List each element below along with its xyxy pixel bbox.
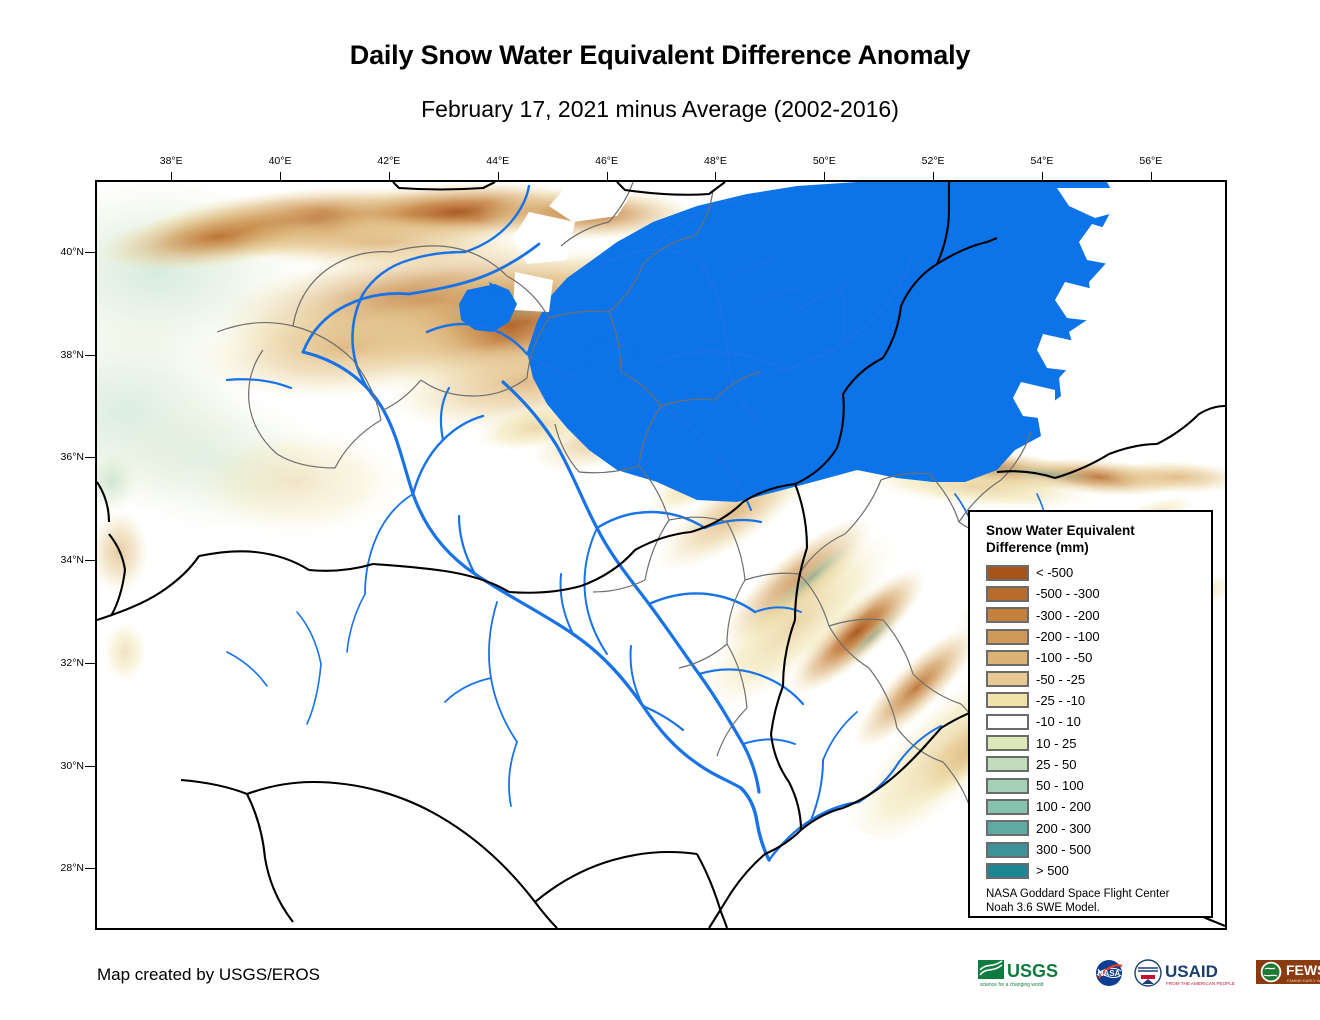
map-credit: Map created by USGS/EROS <box>97 965 320 985</box>
latitude-tick-label: 40°N <box>40 246 84 258</box>
svg-text:USGS: USGS <box>1007 961 1058 981</box>
svg-text:FAMINE EARLY WARNING SYSTEMS N: FAMINE EARLY WARNING SYSTEMS NETWORK <box>1287 978 1320 983</box>
legend-swatch <box>986 735 1029 751</box>
legend-label: < -500 <box>1036 565 1073 580</box>
svg-text:science for a changing world: science for a changing world <box>980 982 1044 988</box>
legend-label: -10 - 10 <box>1036 714 1081 729</box>
legend-row: 25 - 50 <box>986 754 1211 775</box>
page-title: Daily Snow Water Equivalent Difference A… <box>0 40 1320 71</box>
legend-row: 10 - 25 <box>986 732 1211 753</box>
legend-swatch <box>986 607 1029 623</box>
legend-label: -25 - -10 <box>1036 693 1085 708</box>
longitude-tick-mark <box>1151 172 1152 180</box>
legend-class-list: < -500-500 - -300-300 - -200-200 - -100-… <box>986 562 1211 881</box>
legend-row: < -500 <box>986 562 1211 583</box>
usgs-logo: USGS science for a changing world <box>978 957 1086 989</box>
legend-swatch <box>986 692 1029 708</box>
legend-label: 200 - 300 <box>1036 821 1091 836</box>
latitude-tick-mark <box>85 868 95 869</box>
longitude-tick-mark <box>933 172 934 180</box>
map-page: Daily Snow Water Equivalent Difference A… <box>0 0 1320 1020</box>
longitude-tick-label: 56°E <box>1139 155 1162 167</box>
legend-row: > 500 <box>986 860 1211 881</box>
legend-row: -10 - 10 <box>986 711 1211 732</box>
legend-label: 100 - 200 <box>1036 799 1091 814</box>
legend-label: -50 - -25 <box>1036 672 1085 687</box>
legend-label: -300 - -200 <box>1036 608 1100 623</box>
legend-swatch <box>986 778 1029 794</box>
legend-swatch <box>986 799 1029 815</box>
agency-logos: USGS science for a changing world NASA U… <box>978 957 1320 989</box>
longitude-tick-mark <box>1042 172 1043 180</box>
longitude-tick-label: 48°E <box>704 155 727 167</box>
legend-row: 300 - 500 <box>986 839 1211 860</box>
svg-text:FROM THE AMERICAN PEOPLE: FROM THE AMERICAN PEOPLE <box>1166 981 1235 986</box>
legend-swatch <box>986 629 1029 645</box>
svg-text:FEWS NET: FEWS NET <box>1286 962 1320 978</box>
longitude-tick-label: 54°E <box>1031 155 1054 167</box>
longitude-tick-mark <box>389 172 390 180</box>
map-legend: Snow Water Equivalent Difference (mm) < … <box>968 510 1213 918</box>
legend-swatch <box>986 863 1029 879</box>
legend-label: 10 - 25 <box>1036 736 1076 751</box>
latitude-tick-mark <box>85 457 95 458</box>
latitude-tick-mark <box>85 663 95 664</box>
legend-row: 50 - 100 <box>986 775 1211 796</box>
legend-swatch <box>986 586 1029 602</box>
legend-label: 300 - 500 <box>1036 842 1091 857</box>
legend-title: Snow Water Equivalent Difference (mm) <box>986 522 1186 556</box>
latitude-tick-mark <box>85 766 95 767</box>
latitude-tick-label: 30°N <box>40 760 84 772</box>
longitude-tick-mark <box>498 172 499 180</box>
legend-swatch <box>986 842 1029 858</box>
legend-swatch <box>986 756 1029 772</box>
latitude-tick-label: 36°N <box>40 451 84 463</box>
legend-swatch <box>986 820 1029 836</box>
legend-row: -50 - -25 <box>986 668 1211 689</box>
svg-text:NASA: NASA <box>1098 969 1121 978</box>
longitude-tick-label: 52°E <box>922 155 945 167</box>
page-subtitle: February 17, 2021 minus Average (2002-20… <box>0 96 1320 123</box>
legend-label: 50 - 100 <box>1036 778 1084 793</box>
longitude-tick-label: 50°E <box>813 155 836 167</box>
longitude-tick-label: 46°E <box>595 155 618 167</box>
latitude-tick-label: 34°N <box>40 554 84 566</box>
latitude-tick-label: 38°N <box>40 349 84 361</box>
legend-row: -300 - -200 <box>986 605 1211 626</box>
legend-swatch <box>986 650 1029 666</box>
legend-label: 25 - 50 <box>1036 757 1076 772</box>
legend-row: -100 - -50 <box>986 647 1211 668</box>
longitude-tick-label: 40°E <box>269 155 292 167</box>
legend-row: 200 - 300 <box>986 818 1211 839</box>
legend-row: -25 - -10 <box>986 690 1211 711</box>
latitude-tick-mark <box>85 560 95 561</box>
fewsnet-logo: FEWS NET FAMINE EARLY WARNING SYSTEMS NE… <box>1256 957 1320 989</box>
svg-text:USAID: USAID <box>1165 962 1218 981</box>
longitude-tick-label: 44°E <box>486 155 509 167</box>
legend-swatch <box>986 671 1029 687</box>
longitude-tick-mark <box>824 172 825 180</box>
latitude-tick-mark <box>85 355 95 356</box>
usaid-logo: USAID FROM THE AMERICAN PEOPLE <box>1132 957 1250 989</box>
legend-row: -200 - -100 <box>986 626 1211 647</box>
legend-swatch <box>986 714 1029 730</box>
legend-swatch <box>986 565 1029 581</box>
longitude-tick-mark <box>607 172 608 180</box>
latitude-tick-label: 32°N <box>40 657 84 669</box>
legend-label: -100 - -50 <box>1036 650 1092 665</box>
legend-label: -500 - -300 <box>1036 586 1100 601</box>
legend-row: 100 - 200 <box>986 796 1211 817</box>
longitude-tick-mark <box>715 172 716 180</box>
legend-row: -500 - -300 <box>986 583 1211 604</box>
legend-label: -200 - -100 <box>1036 629 1100 644</box>
longitude-tick-mark <box>280 172 281 180</box>
nasa-logo: NASA <box>1092 957 1126 989</box>
legend-label: > 500 <box>1036 863 1069 878</box>
longitude-tick-mark <box>171 172 172 180</box>
longitude-tick-label: 38°E <box>160 155 183 167</box>
latitude-tick-mark <box>85 252 95 253</box>
latitude-tick-label: 28°N <box>40 862 84 874</box>
legend-source-note: NASA Goddard Space Flight Center Noah 3.… <box>986 888 1211 915</box>
longitude-tick-label: 42°E <box>377 155 400 167</box>
